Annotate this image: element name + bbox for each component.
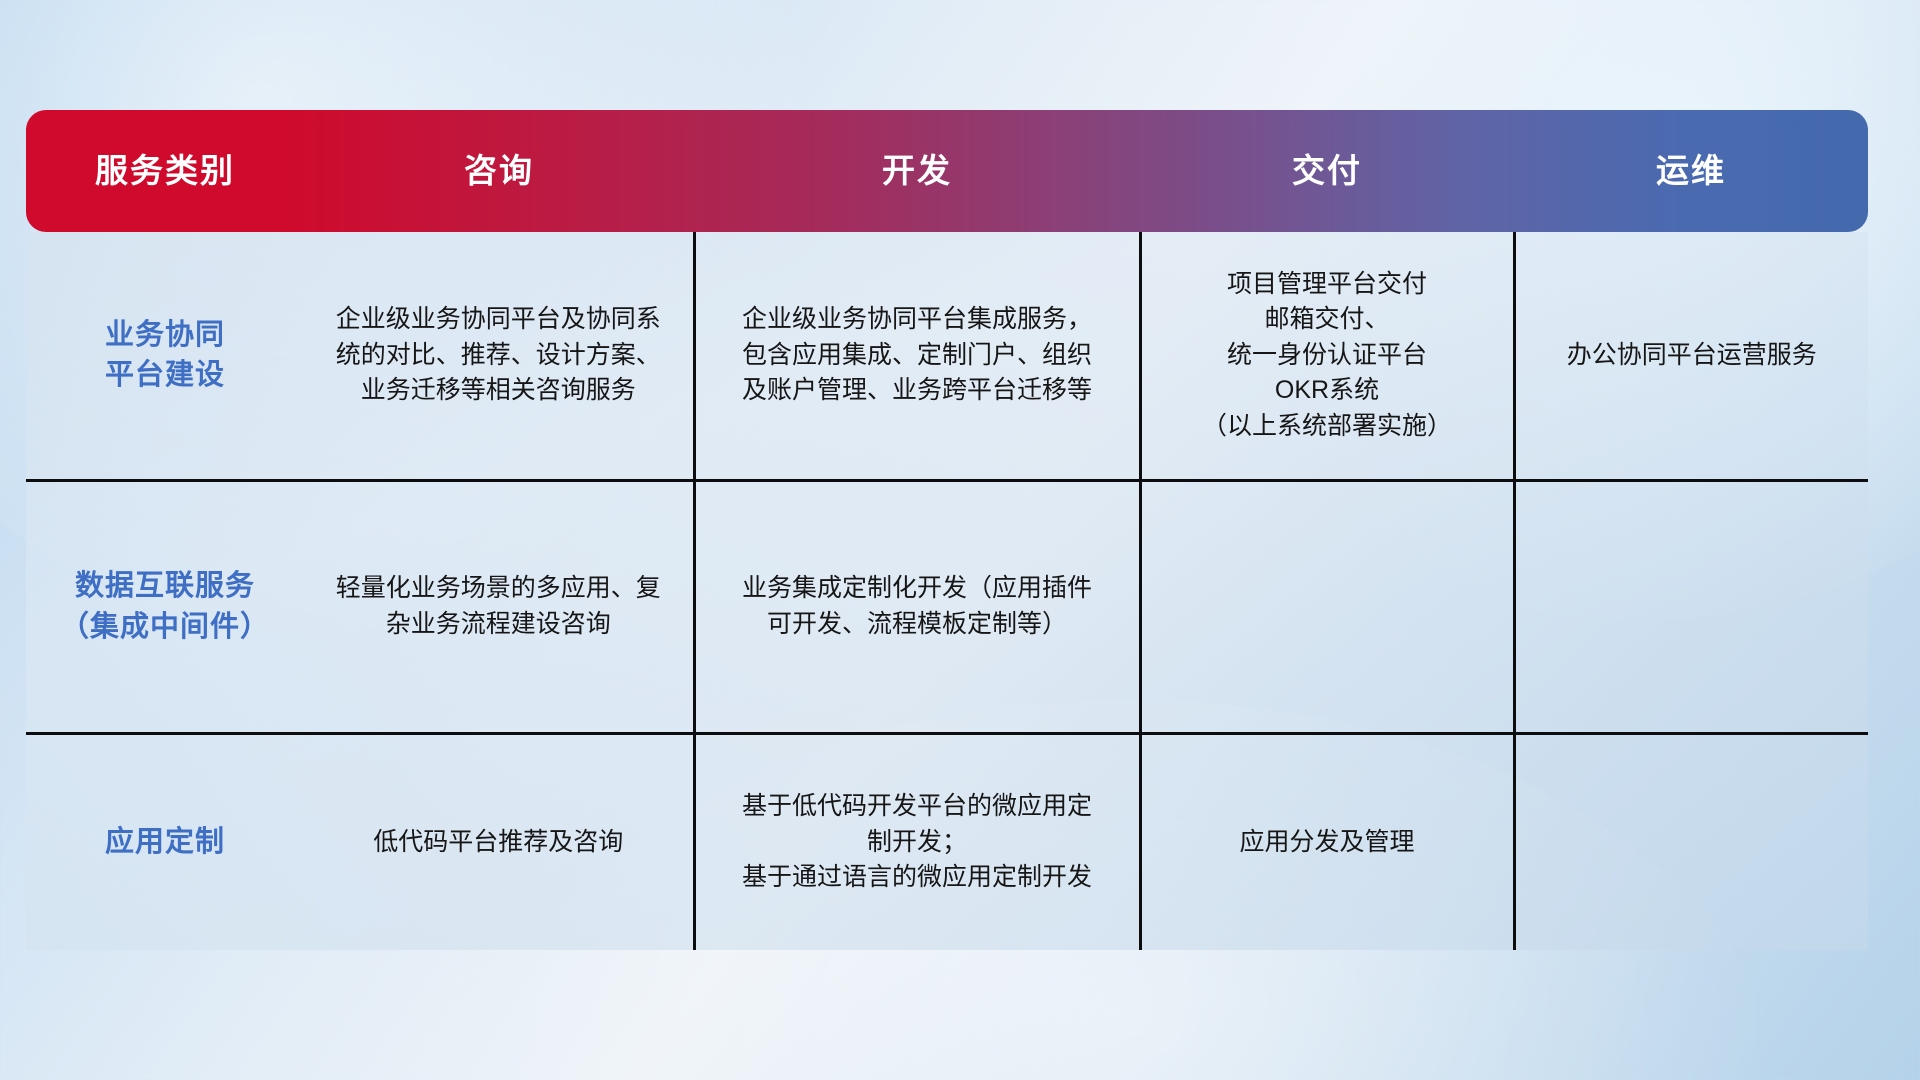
- row-label-application-customization: 应用定制: [26, 733, 304, 950]
- cell-text: 低代码平台推荐及咨询: [320, 825, 677, 861]
- header-row: 服务类别 咨询 开发 交付 运维: [26, 110, 1868, 232]
- column-header-development[interactable]: 开发: [694, 110, 1140, 232]
- cell-delivery-row1: 项目管理平台交付 邮箱交付、 统一身份认证平台 OKR系统 （以上系统部署实施）: [1140, 232, 1514, 480]
- cell-consulting-row3: 低代码平台推荐及咨询: [304, 733, 694, 950]
- cell-development-row1: 企业级业务协同平台集成服务， 包含应用集成、定制门户、组织 及账户管理、业务跨平…: [694, 232, 1140, 480]
- cell-consulting-row2: 轻量化业务场景的多应用、复 杂业务流程建设咨询: [304, 480, 694, 733]
- cell-text: 应用分发及管理: [1158, 825, 1497, 861]
- cell-delivery-row2: [1140, 480, 1514, 733]
- cell-text: 基于低代码开发平台的微应用定 制开发； 基于通过语言的微应用定制开发: [712, 789, 1123, 896]
- table-row: 应用定制 低代码平台推荐及咨询 基于低代码开发平台的微应用定 制开发； 基于通过…: [26, 733, 1868, 950]
- column-header-delivery-label: 交付: [1292, 152, 1362, 189]
- row-label-business-collaboration: 业务协同 平台建设: [26, 232, 304, 480]
- column-header-consulting-label: 咨询: [464, 152, 534, 189]
- column-header-operations[interactable]: 运维: [1514, 110, 1868, 232]
- service-matrix-table: 服务类别 咨询 开发 交付 运维 业务协同 平台建设: [26, 110, 1868, 950]
- cell-text: 轻量化业务场景的多应用、复 杂业务流程建设咨询: [320, 571, 677, 642]
- column-header-development-label: 开发: [882, 152, 952, 189]
- cell-development-row3: 基于低代码开发平台的微应用定 制开发； 基于通过语言的微应用定制开发: [694, 733, 1140, 950]
- cell-operations-row1: 办公协同平台运营服务: [1514, 232, 1868, 480]
- column-header-operations-label: 运维: [1656, 152, 1726, 189]
- cell-text: 企业级业务协同平台及协同系 统的对比、推荐、设计方案、 业务迁移等相关咨询服务: [320, 302, 677, 409]
- cell-delivery-row3: 应用分发及管理: [1140, 733, 1514, 950]
- table-body: 业务协同 平台建设 企业级业务协同平台及协同系 统的对比、推荐、设计方案、 业务…: [26, 232, 1868, 950]
- column-header-category[interactable]: 服务类别: [26, 110, 304, 232]
- cell-text: 企业级业务协同平台集成服务， 包含应用集成、定制门户、组织 及账户管理、业务跨平…: [712, 302, 1123, 409]
- row-label-text: 数据互联服务 （集成中间件）: [42, 566, 288, 646]
- table-row: 数据互联服务 （集成中间件） 轻量化业务场景的多应用、复 杂业务流程建设咨询 业…: [26, 480, 1868, 733]
- table-header: 服务类别 咨询 开发 交付 运维: [26, 110, 1868, 232]
- table-row: 业务协同 平台建设 企业级业务协同平台及协同系 统的对比、推荐、设计方案、 业务…: [26, 232, 1868, 480]
- column-header-delivery[interactable]: 交付: [1140, 110, 1514, 232]
- column-header-consulting[interactable]: 咨询: [304, 110, 694, 232]
- row-label-text: 应用定制: [42, 822, 288, 862]
- cell-operations-row3: [1514, 733, 1868, 950]
- cell-text: 业务集成定制化开发（应用插件 可开发、流程模板定制等）: [712, 571, 1123, 642]
- cell-text: 项目管理平台交付 邮箱交付、 统一身份认证平台 OKR系统 （以上系统部署实施）: [1158, 267, 1497, 445]
- cell-text: 办公协同平台运营服务: [1532, 338, 1853, 374]
- row-label-text: 业务协同 平台建设: [42, 315, 288, 395]
- cell-operations-row2: [1514, 480, 1868, 733]
- cell-development-row2: 业务集成定制化开发（应用插件 可开发、流程模板定制等）: [694, 480, 1140, 733]
- row-label-data-interconnect-service: 数据互联服务 （集成中间件）: [26, 480, 304, 733]
- column-header-category-label: 服务类别: [95, 152, 235, 189]
- cell-consulting-row1: 企业级业务协同平台及协同系 统的对比、推荐、设计方案、 业务迁移等相关咨询服务: [304, 232, 694, 480]
